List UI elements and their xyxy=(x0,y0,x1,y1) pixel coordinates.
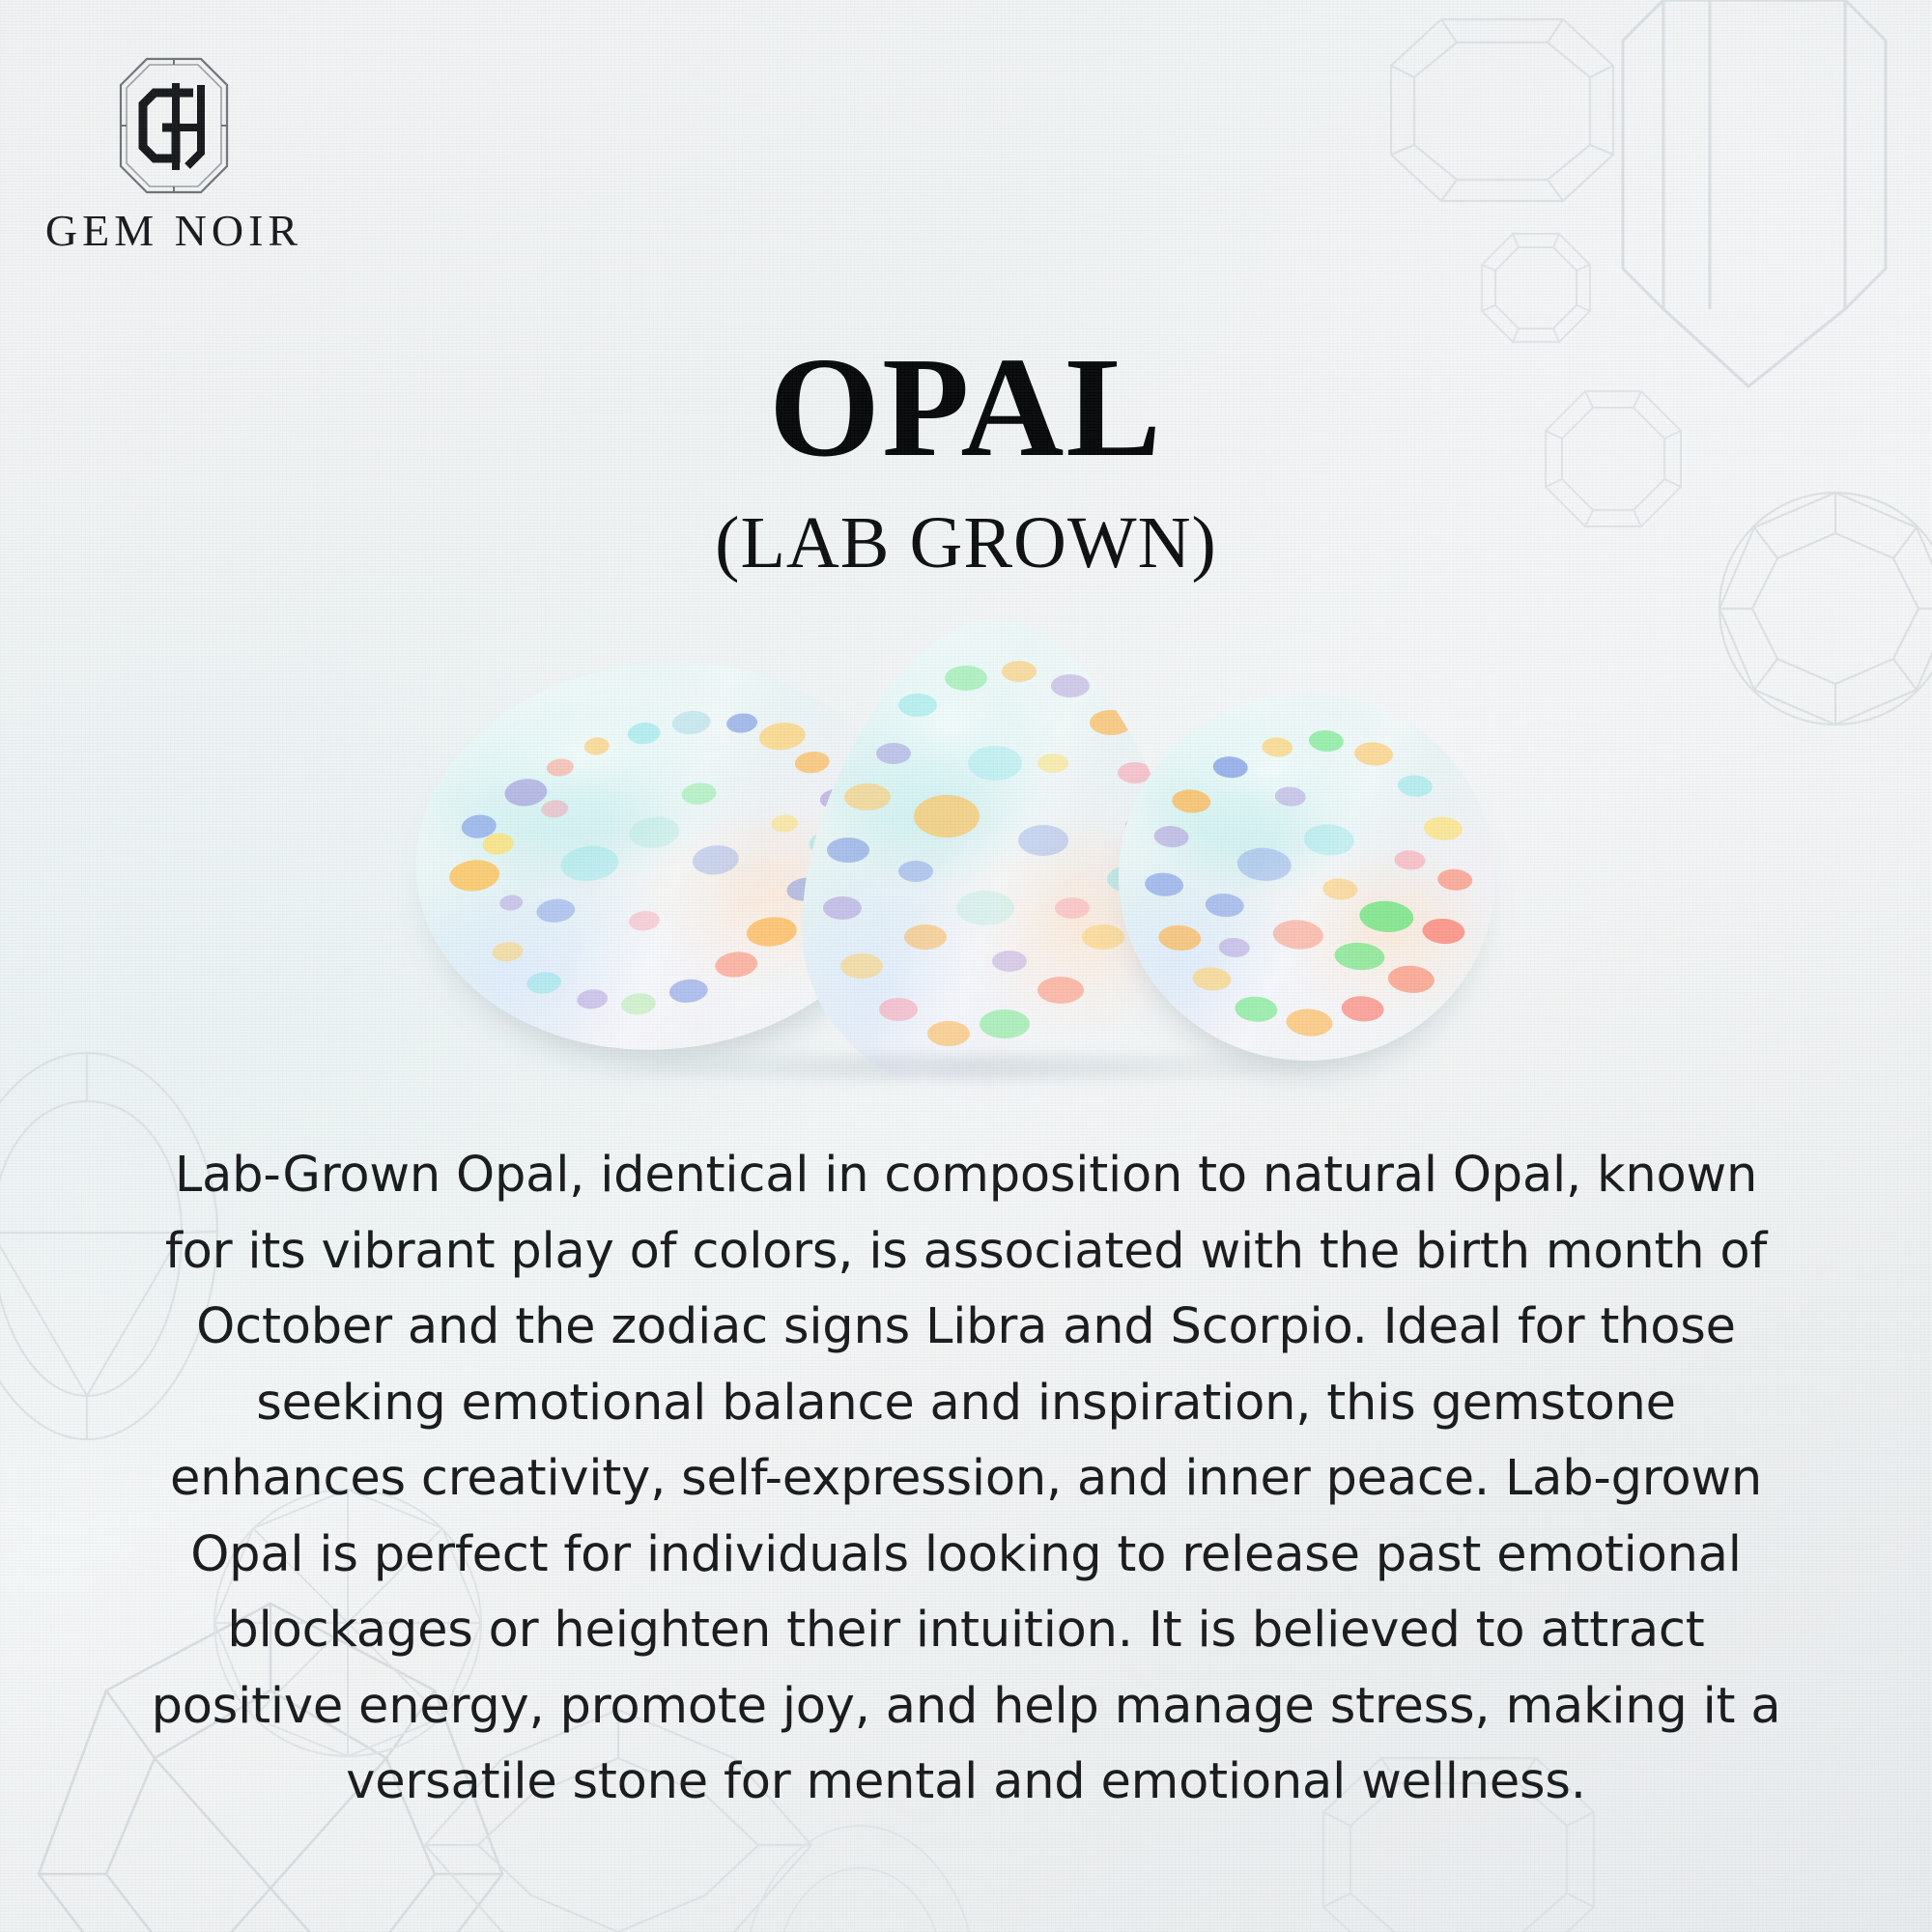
gemstone-drop-shadow xyxy=(454,1041,1478,1094)
gemstone-cluster xyxy=(0,618,1932,1121)
opal-play-of-color-right xyxy=(1106,681,1508,1073)
pear-gem-outline-icon xyxy=(734,1816,985,1932)
page-title: OPAL xyxy=(0,336,1932,479)
brand-wordmark: GEM NOIR xyxy=(29,209,319,253)
octagon-gem-outline-icon xyxy=(1478,230,1594,346)
description-block: Lab-Grown Opal, identical in composition… xyxy=(145,1138,1787,1821)
description-paragraph: Lab-Grown Opal, identical in composition… xyxy=(145,1138,1787,1821)
brand-logo[interactable]: GEM NOIR xyxy=(29,56,319,253)
poster-canvas: GEM NOIR OPAL (LAB GROWN) xyxy=(0,0,1932,1932)
emerald-cut-gem-outline-icon xyxy=(1381,10,1623,213)
gn-monogram-octagon-emblem-icon xyxy=(118,56,230,195)
hero-heading-group: OPAL (LAB GROWN) xyxy=(0,336,1932,580)
opal-round-right xyxy=(1106,681,1508,1073)
page-subtitle: (LAB GROWN) xyxy=(0,506,1932,580)
